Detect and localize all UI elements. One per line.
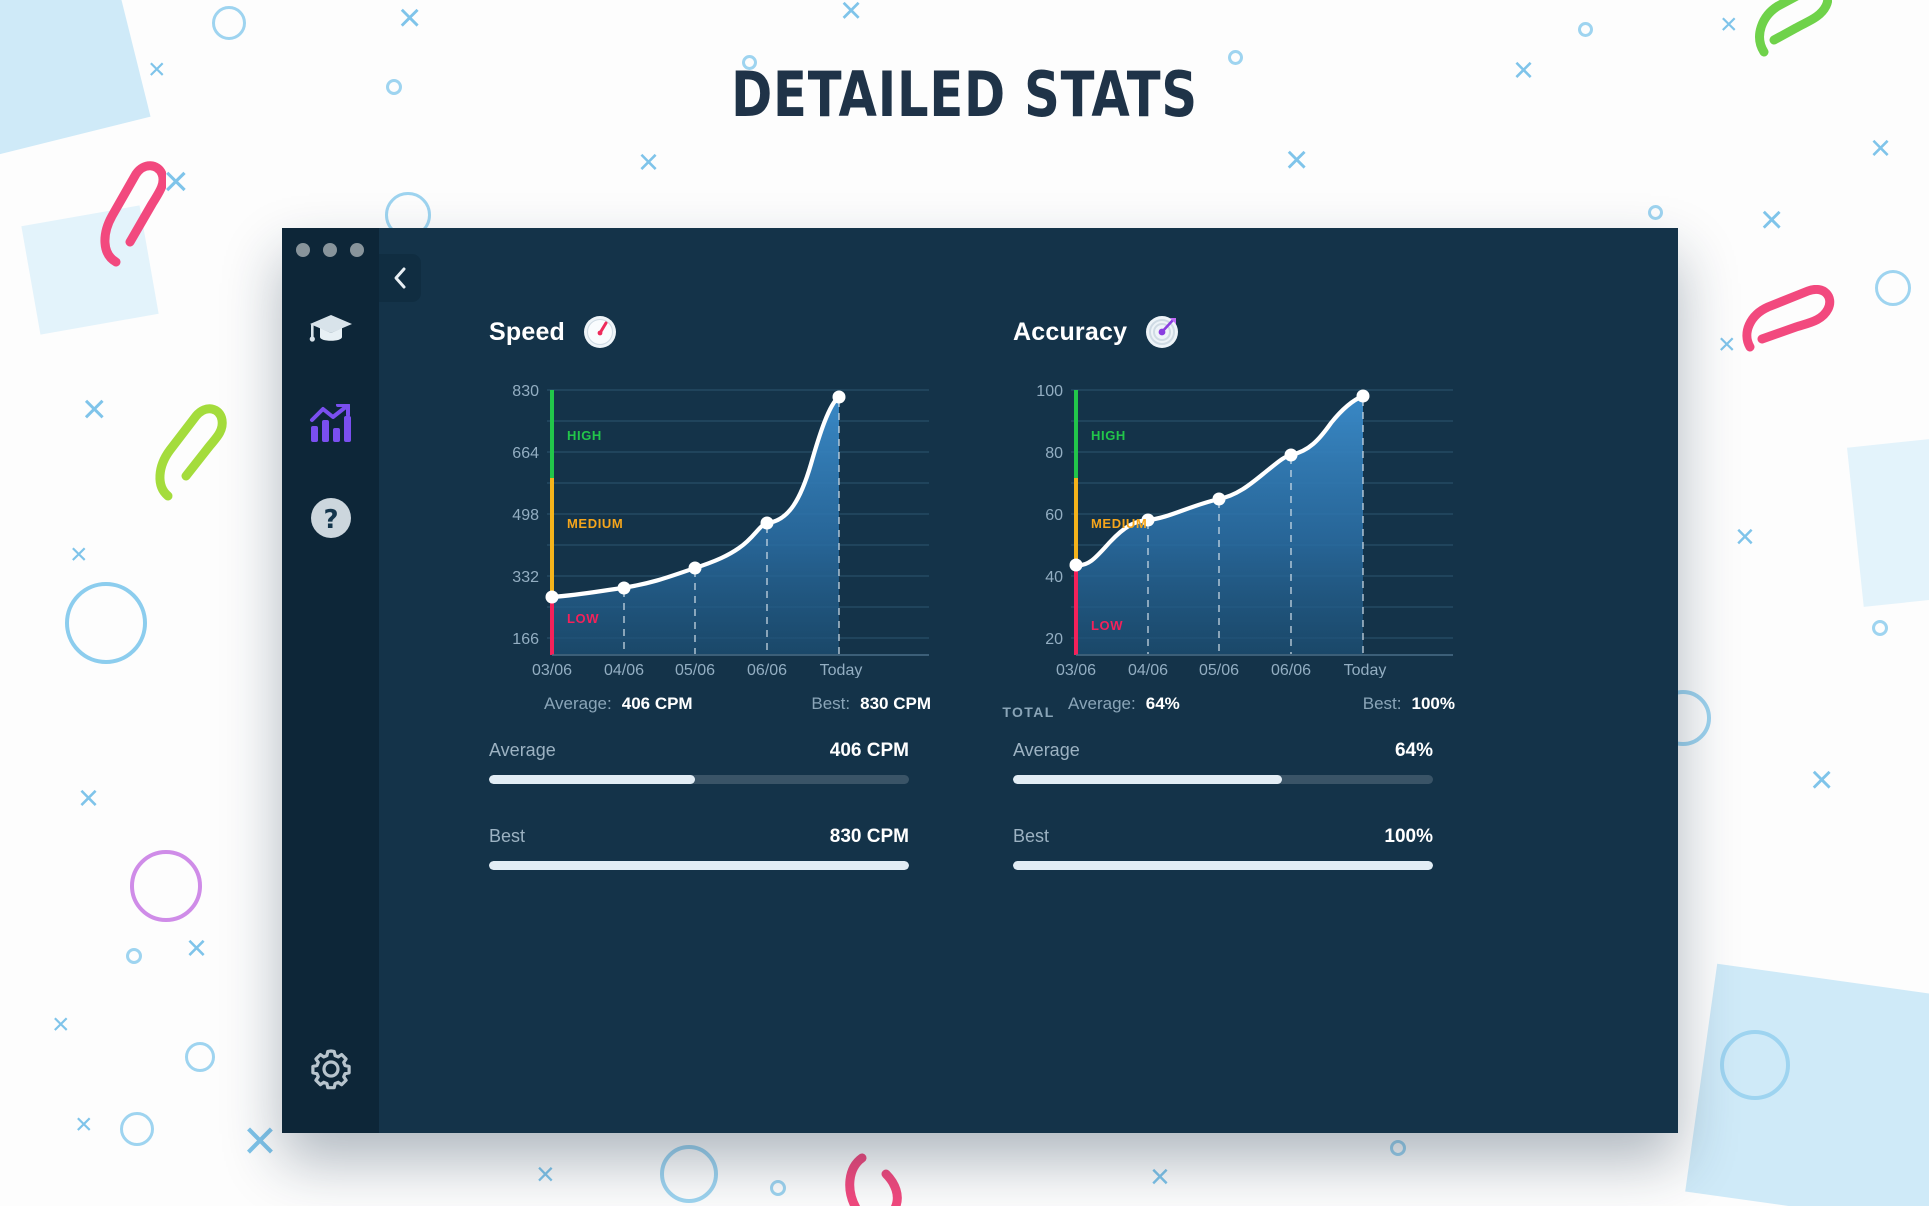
dot-doodle [1390,1140,1406,1156]
accuracy-zone-label-medium: MEDIUM [1091,516,1147,531]
circle-doodle [660,1145,718,1203]
speed-average-bar-value: 406 CPM [830,740,909,762]
speed-best-progress-fill [489,861,909,870]
x-doodle: × [148,55,166,85]
speed-xtick-2: 05/06 [675,662,715,678]
dot-doodle [1648,205,1663,220]
speed-panel: Speed [489,312,949,714]
page-title: DETAILED STATS [193,58,1736,131]
speed-panel-title: Speed [489,318,565,347]
speed-ytick-166: 166 [512,631,539,648]
x-doodle: × [1150,1160,1170,1194]
close-window-button[interactable] [296,243,310,257]
accuracy-ytick-40: 40 [1045,569,1063,586]
x-doodle: × [1760,200,1783,240]
speed-best-bar-row: Best 830 CPM [489,826,909,870]
speed-xtick-0: 03/06 [532,662,572,678]
speed-zone-label-medium: MEDIUM [567,516,623,531]
page-root: × × × × × × × × × × × × × × × × × × × × … [0,0,1929,1206]
speed-panel-header: Speed [489,312,949,352]
accuracy-panel: Accuracy [1013,312,1473,714]
svg-text:?: ? [323,505,338,535]
accuracy-best-bar-label: Best [1013,826,1049,847]
accuracy-chart[interactable]: 100 80 60 40 20 HIGH MEDIUM LOW 03/06 [1013,378,1473,678]
speed-best-progress-track[interactable] [489,861,909,870]
speed-y-axis-labels: 830 664 498 332 166 [512,383,539,648]
speed-ytick-664: 664 [512,445,539,462]
speed-xtick-4: Today [820,662,863,678]
paperclip-icon [840,1150,910,1206]
accuracy-zone-label-high: HIGH [1091,428,1126,443]
x-doodle: × [398,0,421,38]
accuracy-average-bar-label: Average [1013,740,1080,761]
speed-ytick-332: 332 [512,569,539,586]
x-doodle: × [1810,760,1833,800]
sidebar-item-stats[interactable] [305,398,357,450]
x-doodle: × [1285,140,1308,180]
accuracy-totals: Average 64% Best 100% [1013,740,1433,870]
target-dart-icon [1145,315,1179,349]
sidebar-footer [282,1043,379,1095]
sidebar-item-learn[interactable] [305,304,357,356]
accuracy-best-progress-track[interactable] [1013,861,1433,870]
x-doodle: × [70,540,88,570]
circle-doodle [1720,1030,1790,1100]
x-doodle: × [75,1110,93,1140]
sidebar-item-help[interactable]: ? [305,492,357,544]
sidebar: ? [282,228,379,1133]
speed-average-progress-track[interactable] [489,775,909,784]
circle-doodle [130,850,202,922]
speed-average-bar-row: Average 406 CPM [489,740,909,784]
accuracy-chart-svg: 100 80 60 40 20 HIGH MEDIUM LOW 03/06 [1013,378,1473,678]
accuracy-xtick-0: 03/06 [1056,662,1096,678]
paperclip-icon [1752,0,1832,72]
accuracy-panel-header: Accuracy [1013,312,1473,352]
x-doodle: × [1720,10,1738,40]
circle-doodle [1875,270,1911,306]
x-doodle: × [1718,330,1736,360]
speed-average-bar-head: Average 406 CPM [489,740,909,762]
dot-doodle [770,1180,786,1196]
accuracy-zone-label-low: LOW [1091,618,1123,633]
x-doodle: × [638,144,659,180]
bar-chart-icon [309,404,353,444]
accuracy-average-progress-track[interactable] [1013,775,1433,784]
speed-zone-label-high: HIGH [567,428,602,443]
x-doodle: × [52,1010,70,1040]
speed-chart-svg: 830 664 498 332 166 HIGH MEDIUM LOW [489,378,949,678]
graduation-cap-icon [308,313,354,347]
x-doodle: × [1870,130,1891,166]
panels-container: Speed [379,228,1678,1133]
x-doodle: × [82,388,107,430]
accuracy-best-bar-head: Best 100% [1013,826,1433,848]
accuracy-y-axis-labels: 100 80 60 40 20 [1036,383,1063,648]
accuracy-xtick-3: 06/06 [1271,662,1311,678]
maximize-window-button[interactable] [350,243,364,257]
speed-average-progress-fill [489,775,695,784]
speed-ytick-830: 830 [512,383,539,400]
window-traffic-lights [296,243,364,257]
speed-xtick-1: 04/06 [604,662,644,678]
sticky-note-shape [0,0,151,159]
x-doodle: × [186,930,207,966]
accuracy-best-progress-fill [1013,861,1433,870]
accuracy-average-progress-fill [1013,775,1282,784]
circle-doodle [120,1112,154,1146]
circle-doodle [65,582,147,664]
circle-doodle [212,6,246,40]
accuracy-ytick-60: 60 [1045,507,1063,524]
x-doodle: × [840,0,862,30]
circle-doodle [185,1042,215,1072]
x-doodle: × [536,1158,555,1190]
sidebar-nav: ? [282,304,379,544]
dot-doodle [1872,620,1888,636]
accuracy-panel-title: Accuracy [1013,318,1127,347]
speed-best-bar-head: Best 830 CPM [489,826,909,848]
paperclip-icon [150,400,230,510]
paperclip-icon [1740,285,1835,390]
x-doodle: × [1735,520,1755,554]
sticky-note-shape [21,205,158,334]
accuracy-xtick-4: Today [1344,662,1387,678]
app-window: ? [282,228,1678,1133]
minimize-window-button[interactable] [323,243,337,257]
question-mark-icon: ? [310,497,352,539]
accuracy-ytick-20: 20 [1045,631,1063,648]
speed-best-bar-value: 830 CPM [830,826,909,848]
settings-button[interactable] [305,1043,357,1095]
accuracy-x-axis-labels: 03/06 04/06 05/06 06/06 Today [1056,662,1386,678]
accuracy-best-bar-value: 100% [1384,826,1433,848]
accuracy-ytick-100: 100 [1036,383,1063,400]
accuracy-best-bar-row: Best 100% [1013,826,1433,870]
speed-xtick-3: 06/06 [747,662,787,678]
total-section-label: TOTAL [379,704,1678,720]
x-doodle: × [243,1112,277,1170]
paperclip-icon [96,158,166,273]
accuracy-xtick-2: 05/06 [1199,662,1239,678]
dot-doodle [126,948,142,964]
accuracy-average-bar-row: Average 64% [1013,740,1433,784]
x-doodle: × [163,160,189,204]
sticky-note-shape [1847,433,1929,607]
speedometer-icon [583,315,617,349]
accuracy-average-bar-head: Average 64% [1013,740,1433,762]
speed-totals: Average 406 CPM Best 830 CPM [489,740,909,870]
speed-best-bar-label: Best [489,826,525,847]
accuracy-ytick-80: 80 [1045,445,1063,462]
x-doodle: × [78,780,99,816]
sticky-note-shape [1685,964,1929,1206]
content-area: Speed [379,228,1678,1133]
dot-doodle [1578,22,1593,37]
speed-ytick-498: 498 [512,507,539,524]
gear-icon [308,1046,354,1092]
speed-x-axis-labels: 03/06 04/06 05/06 06/06 Today [532,662,862,678]
accuracy-average-bar-value: 64% [1395,740,1433,762]
accuracy-xtick-1: 04/06 [1128,662,1168,678]
speed-average-bar-label: Average [489,740,556,761]
speed-zone-label-low: LOW [567,611,599,626]
speed-chart[interactable]: 830 664 498 332 166 HIGH MEDIUM LOW [489,378,949,678]
